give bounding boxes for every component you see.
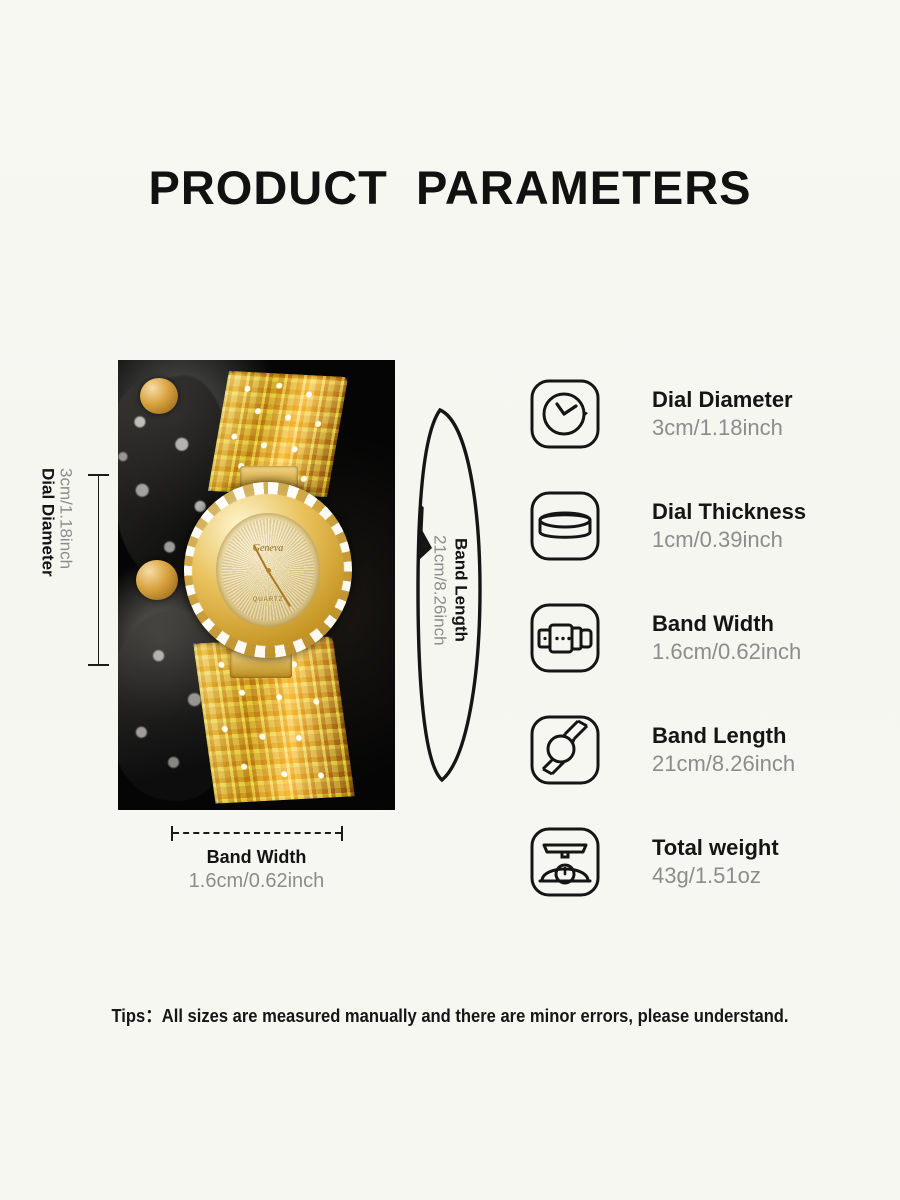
dimension-cap-top bbox=[88, 474, 109, 476]
cylinder-thickness-icon bbox=[526, 487, 604, 565]
spec-label: Dial Diameter bbox=[652, 387, 793, 413]
infographic-page: PRODUCT PARAMETERS Geneva Q bbox=[0, 0, 900, 1200]
dimension-line-horizontal bbox=[169, 826, 345, 840]
spec-text-total-weight: Total weight 43g/1.51oz bbox=[652, 835, 779, 889]
dial-diameter-callout-text: Dial Diameter 3cm/1.18inch bbox=[38, 468, 75, 668]
spec-row-dial-diameter: Dial Diameter 3cm/1.18inch bbox=[526, 358, 876, 470]
spec-text-dial-diameter: Dial Diameter 3cm/1.18inch bbox=[652, 387, 793, 441]
hands-center-pin bbox=[266, 568, 271, 573]
spec-row-band-length: Band Length 21cm/8.26inch bbox=[526, 694, 876, 806]
dial-diameter-callout-value: 3cm/1.18inch bbox=[56, 468, 74, 569]
dimension-dashed-line bbox=[173, 832, 341, 834]
spec-row-total-weight: Total weight 43g/1.51oz bbox=[526, 806, 876, 918]
dial-movement-text: QUARTZ bbox=[216, 597, 320, 603]
spec-value: 3cm/1.18inch bbox=[652, 415, 793, 441]
spec-label: Band Length bbox=[652, 723, 795, 749]
band-length-callout: Band Length 21cm/8.26inch bbox=[410, 388, 490, 792]
kitchen-scale-icon bbox=[526, 823, 604, 901]
product-photo: Geneva QUARTZ bbox=[118, 360, 395, 810]
band-length-loop-arrow-icon bbox=[410, 388, 490, 792]
spec-label: Band Width bbox=[652, 611, 801, 637]
spec-label: Dial Thickness bbox=[652, 499, 806, 525]
spec-value: 43g/1.51oz bbox=[652, 863, 779, 889]
watch-product: Geneva QUARTZ bbox=[156, 370, 386, 800]
spec-text-band-length: Band Length 21cm/8.26inch bbox=[652, 723, 795, 777]
spec-value: 21cm/8.26inch bbox=[652, 751, 795, 777]
spec-value: 1.6cm/0.62inch bbox=[652, 639, 801, 665]
watch-band-buckle-icon bbox=[526, 599, 604, 677]
footer-tips: Tips：All sizes are measured manually and… bbox=[36, 1002, 864, 1028]
dial-brand-text: Geneva bbox=[216, 543, 320, 554]
page-title: PRODUCT PARAMETERS bbox=[0, 160, 900, 215]
dial-diameter-callout-label: Dial Diameter bbox=[38, 468, 56, 577]
spec-text-dial-thickness: Dial Thickness 1cm/0.39inch bbox=[652, 499, 806, 553]
spec-list: Dial Diameter 3cm/1.18inch Dial Thicknes… bbox=[526, 358, 876, 918]
watch-case: Geneva QUARTZ bbox=[184, 482, 352, 658]
watch-with-straps-icon bbox=[526, 711, 604, 789]
spec-label: Total weight bbox=[652, 835, 779, 861]
spec-row-dial-thickness: Dial Thickness 1cm/0.39inch bbox=[526, 470, 876, 582]
spec-row-band-width: Band Width 1.6cm/0.62inch bbox=[526, 582, 876, 694]
dimension-cap-bottom bbox=[88, 664, 109, 666]
band-width-callout-value: 1.6cm/0.62inch bbox=[118, 869, 395, 894]
spec-value: 1cm/0.39inch bbox=[652, 527, 806, 553]
spec-text-band-width: Band Width 1.6cm/0.62inch bbox=[652, 611, 801, 665]
band-width-callout-label: Band Width bbox=[118, 846, 395, 869]
dimension-line-vertical bbox=[98, 474, 99, 666]
dimension-cap-right bbox=[341, 826, 343, 841]
watch-dial: Geneva QUARTZ bbox=[216, 513, 320, 627]
band-width-callout: Band Width 1.6cm/0.62inch bbox=[118, 826, 395, 894]
watch-dial-icon bbox=[526, 375, 604, 453]
